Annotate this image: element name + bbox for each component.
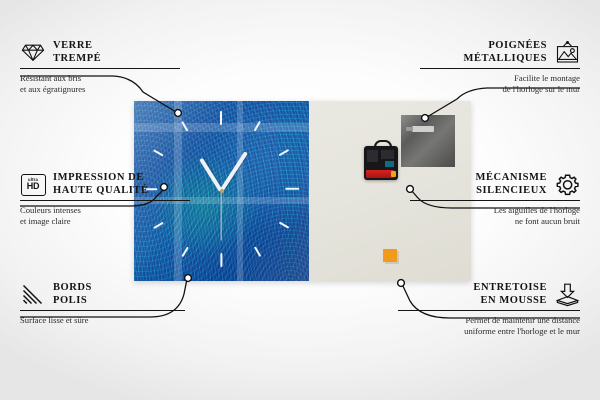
feature-header: MÉCANISME SILENCIEUX: [410, 172, 580, 197]
feature-title: VERRE TREMPÉ: [53, 40, 101, 65]
feature-subtitle: Couleurs intenses et image claire: [20, 205, 190, 226]
hanger-slot-secondary: [406, 127, 413, 131]
feature-divider: [420, 68, 580, 69]
feature-header: POIGNÉES MÉTALLIQUES: [420, 40, 580, 65]
battery-positive-tip: [391, 171, 396, 177]
feature-divider: [410, 200, 580, 201]
polished-edges-icon: [20, 283, 46, 307]
feature-subtitle: Les aiguilles de l'horloge ne font aucun…: [410, 205, 580, 226]
clock-second-hand: [220, 191, 221, 241]
feature-divider: [20, 68, 180, 69]
feature-entretoise-en-mousse: ENTRETOISE EN MOUSSE Permet de maintenir…: [398, 282, 580, 336]
feature-header: ultra HD IMPRESSION DE HAUTE QUALITÉ: [20, 172, 190, 197]
mechanism-detail: [385, 161, 394, 167]
feature-header: VERRE TREMPÉ: [20, 40, 180, 65]
diamond-icon: [20, 41, 46, 65]
mechanism-detail: [367, 150, 378, 162]
foam-spacer: [383, 249, 397, 262]
feature-subtitle: Résistant aux bris et aux égratignures: [20, 73, 180, 94]
feature-title: IMPRESSION DE HAUTE QUALITÉ: [53, 172, 149, 197]
feature-verre-trempe: VERRE TREMPÉ Résistant aux bris et aux é…: [20, 40, 180, 94]
gear-icon: [554, 173, 580, 197]
infographic-canvas: VERRE TREMPÉ Résistant aux bris et aux é…: [0, 0, 600, 400]
clock-mechanism: [364, 146, 398, 180]
feature-subtitle: Permet de maintenir une distance uniform…: [398, 315, 580, 336]
feature-subtitle: Surface lisse et sûre: [20, 315, 185, 326]
mechanism-detail: [381, 150, 394, 159]
feature-mecanisme-silencieux: MÉCANISME SILENCIEUX Les aiguilles de l'…: [410, 172, 580, 226]
clock-center-pin: [220, 189, 224, 193]
feature-title: ENTRETOISE EN MOUSSE: [473, 282, 547, 307]
feature-divider: [20, 200, 190, 201]
mechanism-battery: [366, 170, 394, 178]
clock-hour-marker: [220, 253, 222, 267]
foam-spacer-arrow-icon: [554, 283, 580, 307]
hd-badge-main-text: HD: [27, 182, 40, 191]
feature-bords-polis: BORDS POLIS Surface lisse et sûre: [20, 282, 185, 326]
feature-title: BORDS POLIS: [53, 282, 92, 307]
feature-divider: [398, 310, 580, 311]
feature-divider: [20, 310, 185, 311]
feature-header: BORDS POLIS: [20, 282, 185, 307]
ultra-hd-badge-icon: ultra HD: [20, 173, 46, 197]
feature-poignees-metalliques: POIGNÉES MÉTALLIQUES Facilite le montage…: [420, 40, 580, 94]
metal-hanger-plate: [401, 115, 455, 167]
feature-header: ENTRETOISE EN MOUSSE: [398, 282, 580, 307]
hanger-slot: [412, 126, 434, 132]
feature-title: MÉCANISME SILENCIEUX: [476, 172, 547, 197]
feature-impression-haute-qualite: ultra HD IMPRESSION DE HAUTE QUALITÉ Cou…: [20, 172, 190, 226]
feature-title: POIGNÉES MÉTALLIQUES: [464, 40, 547, 65]
feature-subtitle: Facilite le montage de l'horloge sur le …: [420, 73, 580, 94]
picture-hanger-icon: [554, 41, 580, 65]
